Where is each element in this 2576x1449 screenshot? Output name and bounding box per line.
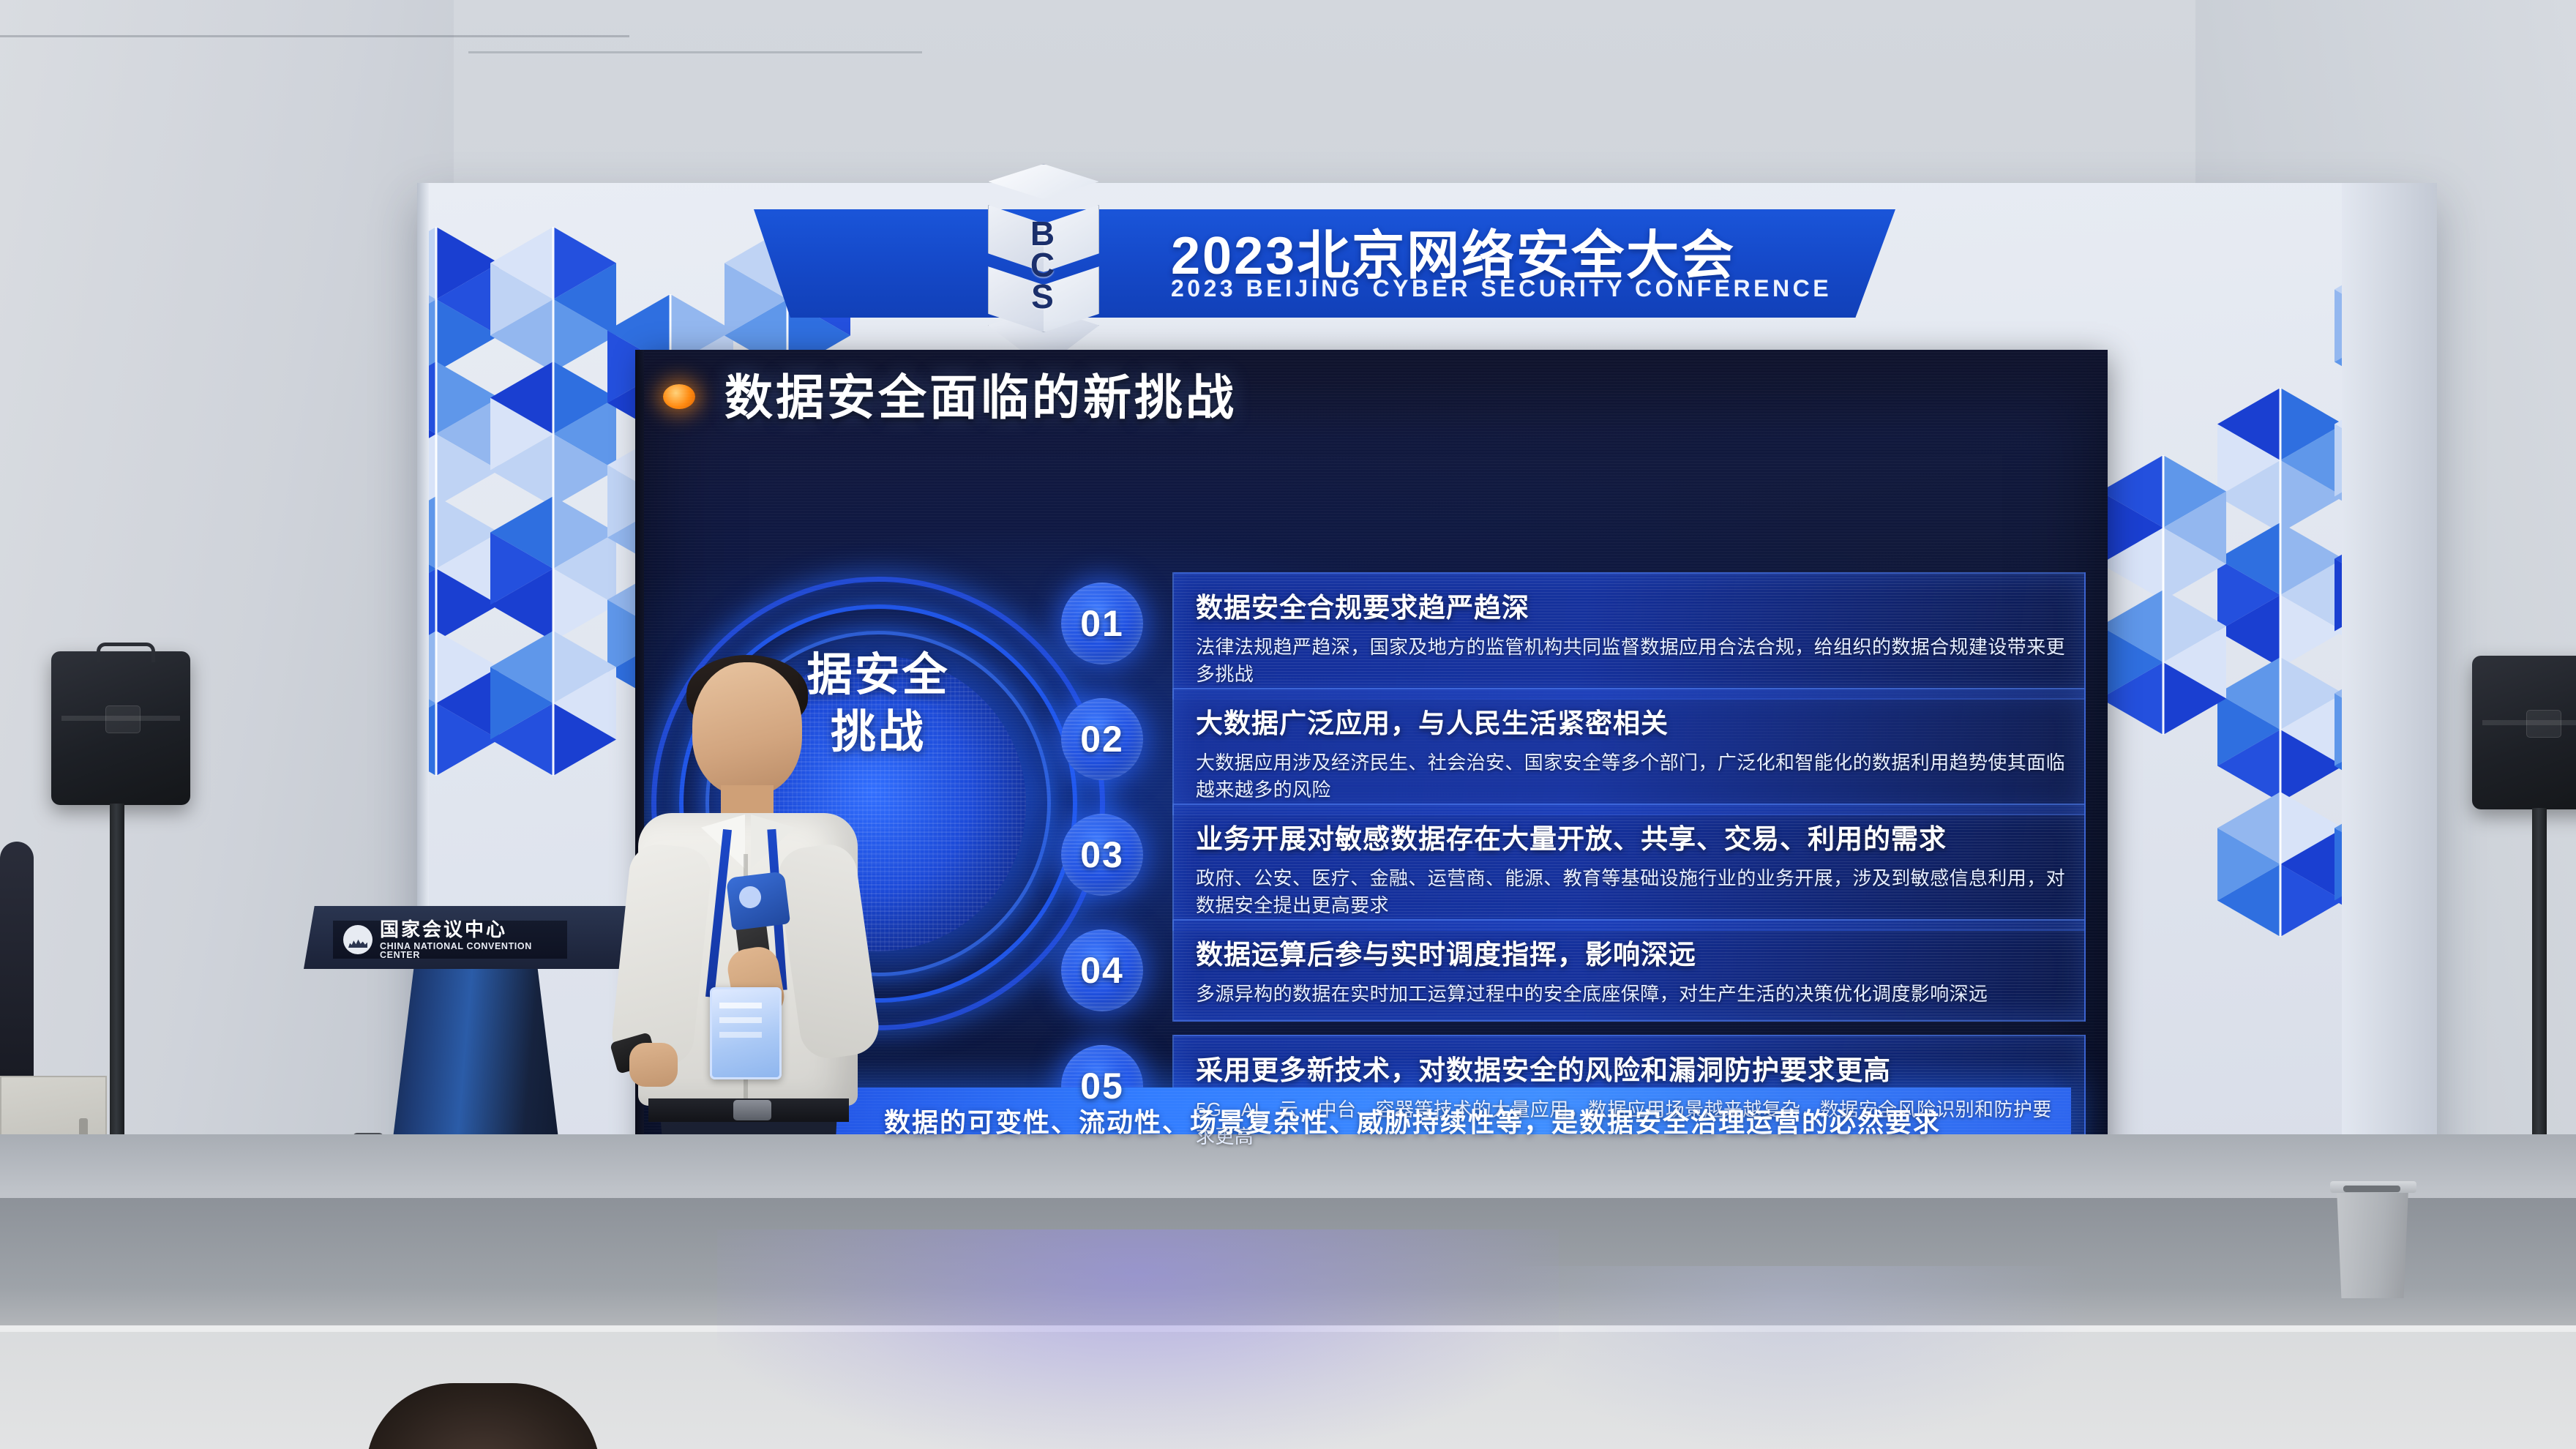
- audience-silhouette-left: [0, 842, 34, 1076]
- challenge-number-badge: 04: [1061, 929, 1143, 1011]
- challenge-list: 01数据安全合规要求趋严趋深法律法规趋严趋深，国家及地方的监管机构共同监督数据应…: [1061, 569, 2086, 1147]
- cube-logo-letter: C: [959, 250, 1127, 281]
- trash-bin-opening: [2343, 1186, 2400, 1192]
- presenter-belt-buckle: [733, 1100, 771, 1120]
- cube-logo-letter: B: [959, 218, 1127, 250]
- floor-light-reflection: [717, 1229, 1559, 1449]
- venue-name-en: CHINA NATIONAL CONVENTION CENTER: [380, 942, 567, 960]
- bcs-logo-letters: BCS: [959, 218, 1127, 313]
- slide-title: 数据安全面临的新挑战: [724, 359, 1237, 429]
- orange-bullet-icon: [663, 384, 695, 409]
- speaker-plate: [2526, 710, 2561, 738]
- challenge-bar: 采用更多新技术，对数据安全的风险和漏洞防护要求更高5G、AI、云、中台、容器等技…: [1172, 1035, 2086, 1162]
- challenge-title: 业务开展对敏感数据存在大量开放、共享、交易、利用的需求: [1196, 817, 2065, 856]
- challenge-body: 政府、公安、医疗、金融、运营商、能源、教育等基础设施行业的业务开展，涉及到敏感信…: [1196, 865, 2065, 919]
- venue-name-cn: 国家会议中心: [380, 920, 567, 939]
- challenge-row: 01数据安全合规要求趋严趋深法律法规趋严趋深，国家及地方的监管机构共同监督数据应…: [1061, 569, 2086, 685]
- challenge-row: 02大数据广泛应用，与人民生活紧密相关大数据应用涉及经济民生、社会治安、国家安全…: [1061, 685, 2086, 801]
- challenge-bar: 大数据广泛应用，与人民生活紧密相关大数据应用涉及经济民生、社会治安、国家安全等多…: [1172, 688, 2086, 815]
- challenge-number: 03: [1080, 834, 1124, 876]
- challenge-bar: 数据运算后参与实时调度指挥，影响深远多源异构的数据在实时加工运算过程中的安全底座…: [1172, 919, 2086, 1022]
- challenge-row: 03业务开展对敏感数据存在大量开放、共享、交易、利用的需求政府、公安、医疗、金融…: [1061, 801, 2086, 916]
- challenge-number-badge: 03: [1061, 814, 1143, 896]
- summary-banner-text: 数据的可变性、流动性、场景复杂性、威胁持续性等，是数据安全治理运营的必然要求: [884, 1101, 1941, 1139]
- floor-light-reflection-secondary: [1500, 1266, 2086, 1449]
- wall-seam: [0, 35, 629, 37]
- challenge-body: 法律法规趋严趋深，国家及地方的监管机构共同监督数据应用合法合规，给组织的数据合规…: [1196, 634, 2065, 688]
- challenge-bar: 业务开展对敏感数据存在大量开放、共享、交易、利用的需求政府、公安、医疗、金融、运…: [1172, 804, 2086, 931]
- room-wall-left: [0, 0, 454, 1200]
- challenge-title: 数据运算后参与实时调度指挥，影响深远: [1196, 932, 2065, 972]
- challenge-body: 多源异构的数据在实时加工运算过程中的安全底座保障，对生产生活的决策优化调度影响深…: [1196, 981, 2065, 1008]
- speaker-handle: [97, 643, 155, 662]
- conference-badge: [710, 987, 782, 1079]
- presenter-hand-left: [629, 1043, 678, 1087]
- challenge-title: 采用更多新技术，对数据安全的风险和漏洞防护要求更高: [1196, 1048, 2065, 1087]
- trash-bin: [2332, 1184, 2414, 1298]
- bcs-cube-logo: BCS: [959, 164, 1127, 362]
- podium-nameplate: 国家会议中心 CHINA NATIONAL CONVENTION CENTER: [333, 921, 567, 959]
- led-presentation-screen: 数据安全面临的新挑战 据安全挑战 01数据安全合规要求趋严趋深法律法规趋严趋深，…: [644, 350, 2108, 1199]
- challenge-number: 04: [1080, 949, 1124, 992]
- speaker-plate: [105, 705, 141, 733]
- wall-seam-secondary: [468, 51, 922, 53]
- ring-core-text: 据安全挑战: [651, 647, 1105, 760]
- backdrop-right-edge: [2342, 183, 2437, 1222]
- cube-logo-letter: S: [959, 281, 1127, 312]
- challenge-row: 04数据运算后参与实时调度指挥，影响深远多源异构的数据在实时加工运算过程中的安全…: [1061, 916, 2086, 1032]
- challenge-body: 大数据应用涉及经济民生、社会治安、国家安全等多个部门，广泛化和智能化的数据利用趋…: [1196, 749, 2065, 804]
- challenge-title: 数据安全合规要求趋严趋深: [1196, 585, 2065, 625]
- challenge-title: 大数据广泛应用，与人民生活紧密相关: [1196, 701, 2065, 741]
- challenge-number: 01: [1080, 602, 1124, 645]
- challenge-bar: 数据安全合规要求趋严趋深法律法规趋严趋深，国家及地方的监管机构共同监督数据应用合…: [1172, 572, 2086, 700]
- conference-stage-photo: BCS 2023北京网络安全大会 2023 BEIJING CYBER SECU…: [0, 0, 2576, 1449]
- cncc-logo-icon: [343, 925, 372, 954]
- conference-subtitle: 2023 BEIJING CYBER SECURITY CONFERENCE: [1171, 275, 1903, 302]
